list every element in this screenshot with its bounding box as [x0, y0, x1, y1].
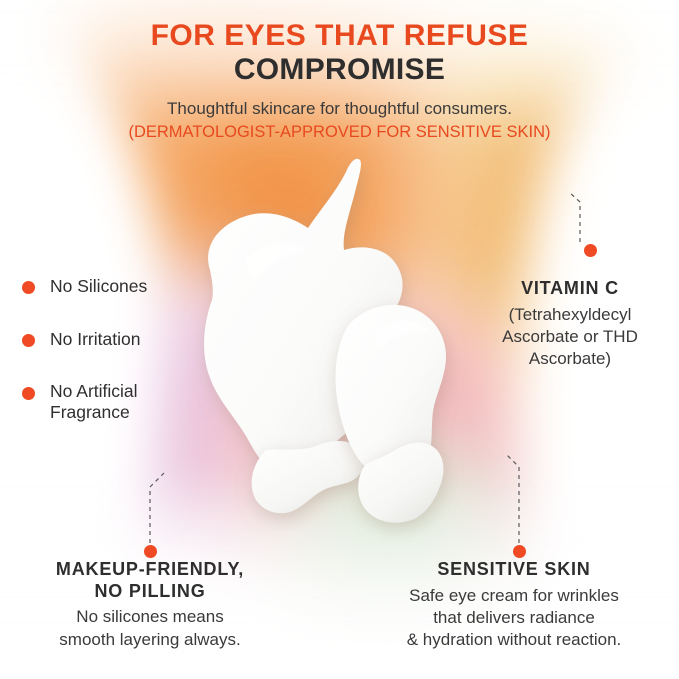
callout-dot-sensitive-skin: [513, 545, 526, 558]
callout-sensitive-skin-body-line3: & hydration without reaction.: [349, 629, 679, 651]
callout-dot-vitamin-c: [584, 244, 597, 257]
callout-dot-makeup-friendly: [144, 545, 157, 558]
product-infographic: FOR EYES THAT REFUSE COMPROMISE Thoughtf…: [0, 0, 679, 679]
callout-sensitive-skin-body-line2: that delivers radiance: [349, 607, 679, 629]
bullet-dot-no-silicones: [22, 281, 35, 294]
bullet-dot-no-irritation: [22, 334, 35, 347]
bullet-dot-no-artificial-fragrance: [22, 387, 35, 400]
callout-sensitive-skin: SENSITIVE SKIN Safe eye cream for wrinkl…: [349, 559, 679, 652]
callout-sensitive-skin-title: SENSITIVE SKIN: [349, 559, 679, 581]
callout-sensitive-skin-body-line1: Safe eye cream for wrinkles: [349, 585, 679, 607]
